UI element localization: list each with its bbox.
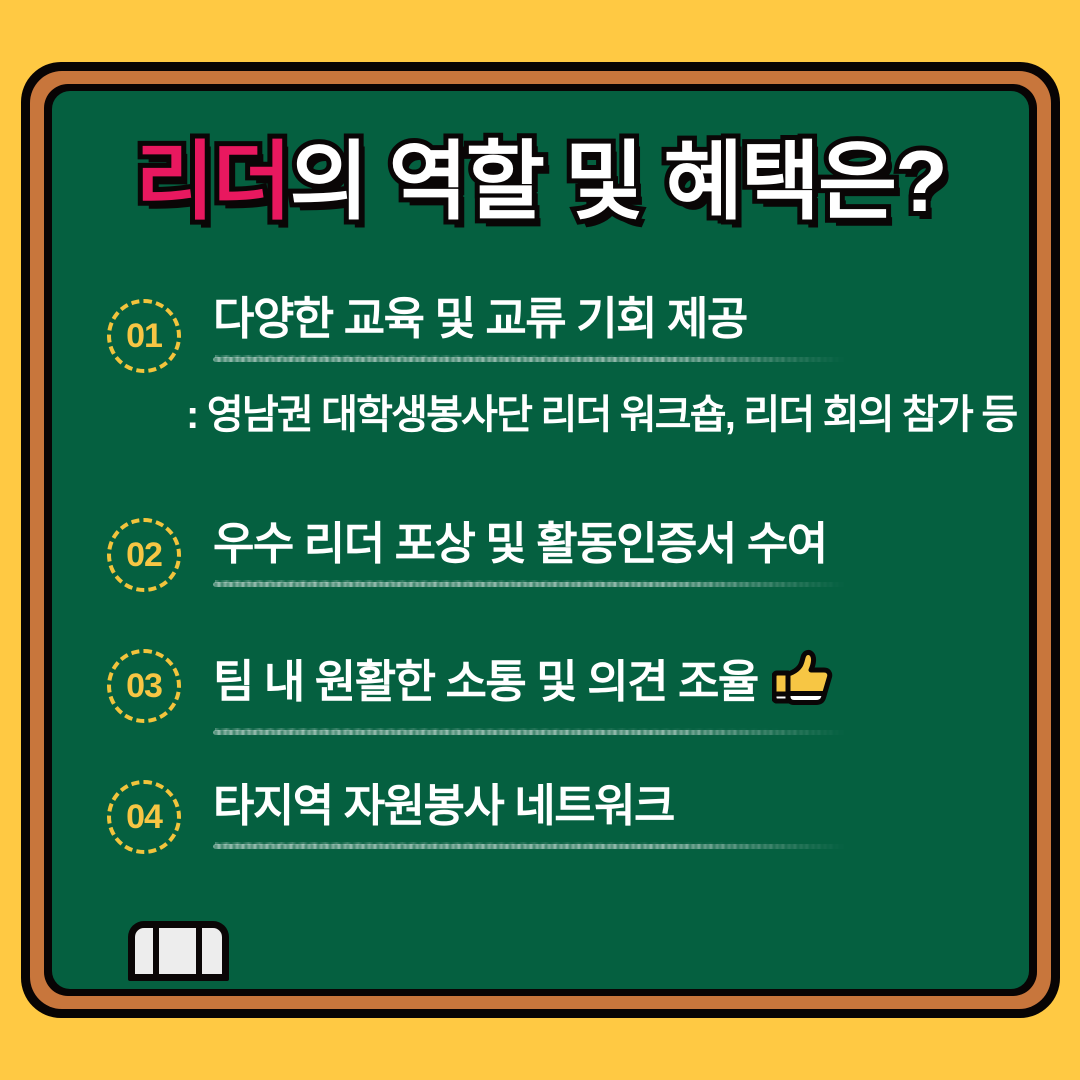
list-item-subtitle: : 영남권 대학생봉사단 리더 워크숍, 리더 회의 참가 등 (186, 393, 1029, 437)
item-number-label: 01 (126, 319, 162, 353)
chalk-underline (213, 354, 846, 365)
page-title-accent: 리더 (135, 139, 289, 225)
list-item-body: 타지역 자원봉사 네트워크 (213, 778, 1029, 852)
list-item: 03 팀 내 원활한 소통 및 의견 조율 (52, 647, 1029, 778)
poster-canvas: 리더의 역할 및 혜택은? 01 다양한 교육 및 교류 기회 제공 (0, 0, 1080, 1080)
chalkboard-outer-edge: 리더의 역할 및 혜택은? 01 다양한 교육 및 교류 기회 제공 (21, 62, 1060, 1018)
benefits-list: 01 다양한 교육 및 교류 기회 제공 : 영남권 대학생봉사단 리더 워크숍… (52, 291, 1029, 909)
list-item-body: 다양한 교육 및 교류 기회 제공 (213, 291, 1029, 365)
list-item-body: 우수 리더 포상 및 활동인증서 수여 (213, 516, 1029, 590)
chalkboard-wooden-frame: 리더의 역할 및 혜택은? 01 다양한 교육 및 교류 기회 제공 (30, 71, 1051, 1009)
list-item-title: 우수 리더 포상 및 활동인증서 수여 (213, 518, 1029, 570)
list-item-body: 팀 내 원활한 소통 및 의견 조율 (213, 647, 1029, 738)
list-item: 01 다양한 교육 및 교류 기회 제공 : 영남권 대학생봉사단 리더 워크숍… (52, 291, 1029, 516)
item-number-badge: 03 (107, 649, 181, 723)
chalk-underline (213, 727, 846, 738)
item-number-badge: 02 (107, 518, 181, 592)
chalk-underline (213, 579, 846, 590)
list-item-title: 팀 내 원활한 소통 및 의견 조율 (213, 649, 1029, 718)
chalk-underline (213, 841, 846, 852)
eraser-segment (135, 928, 159, 974)
list-item-title: 다양한 교육 및 교류 기회 제공 (213, 293, 1029, 345)
list-item-title: 타지역 자원봉사 네트워크 (213, 780, 1029, 832)
eraser-segment (159, 928, 202, 974)
chalkboard-inner-edge: 리더의 역할 및 혜택은? 01 다양한 교육 및 교류 기회 제공 (44, 84, 1037, 996)
page-title: 리더의 역할 및 혜택은? (52, 139, 1029, 225)
item-number-badge: 01 (107, 299, 181, 373)
thumbs-up-icon (772, 649, 834, 718)
page-title-main: 의 역할 및 혜택은? (290, 139, 946, 225)
list-item: 02 우수 리더 포상 및 활동인증서 수여 (52, 516, 1029, 647)
list-item: 04 타지역 자원봉사 네트워크 (52, 778, 1029, 909)
item-number-badge: 04 (107, 780, 181, 854)
item-number-label: 04 (126, 800, 162, 834)
list-item-title-text: 팀 내 원활한 소통 및 의견 조율 (213, 656, 758, 707)
chalk-eraser-icon (128, 921, 229, 981)
item-number-label: 02 (126, 538, 162, 572)
eraser-segment (202, 928, 222, 974)
chalkboard-surface: 리더의 역할 및 혜택은? 01 다양한 교육 및 교류 기회 제공 (52, 91, 1029, 989)
item-number-label: 03 (126, 669, 162, 703)
